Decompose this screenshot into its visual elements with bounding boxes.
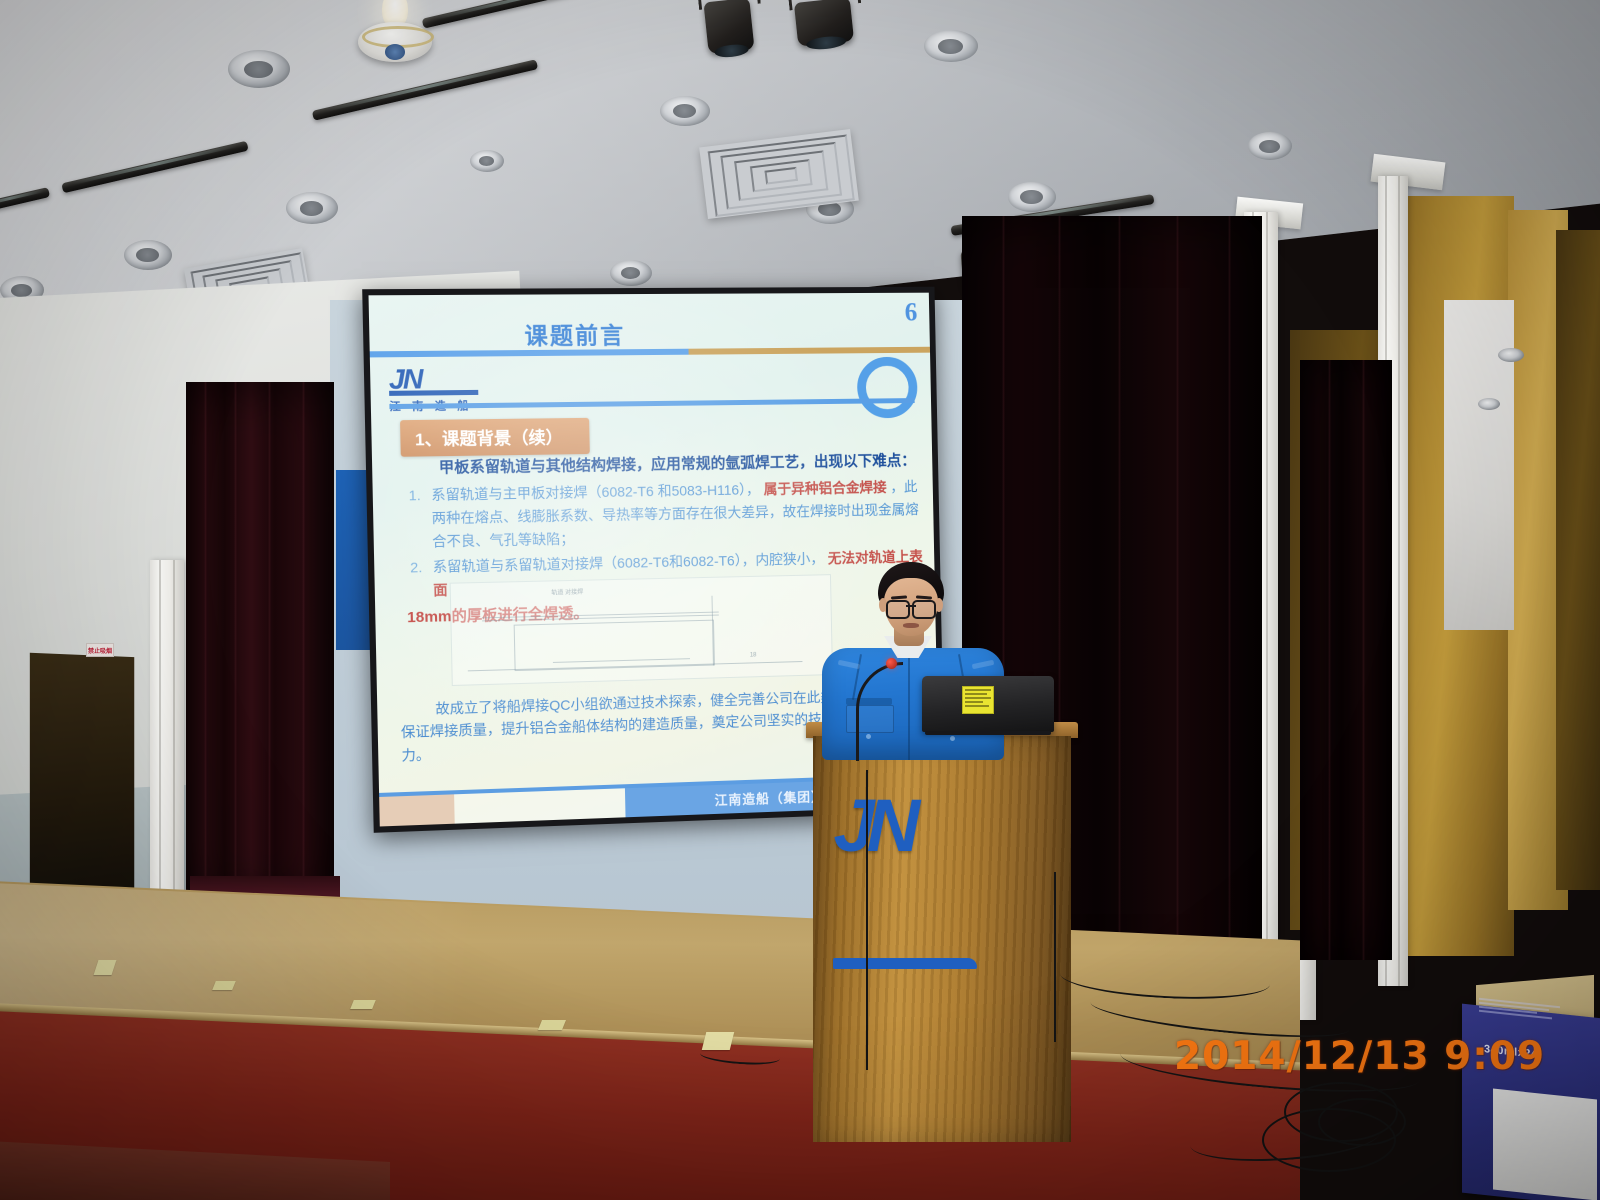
divider-tan-segment	[688, 347, 930, 355]
divider-blue-segment	[370, 349, 689, 358]
logo-mark-text: JN	[389, 366, 504, 393]
speaker-podium: JN	[806, 722, 1078, 1142]
floor-cable	[1054, 872, 1090, 1042]
presenter-mouth	[903, 623, 919, 628]
jacket-shoulder-tab	[972, 660, 995, 669]
stage-edge-marker	[538, 1020, 566, 1030]
list-item-emphasis: 属于异种铝合金焊接	[763, 480, 886, 498]
floor-cable	[866, 770, 888, 1070]
carton-white-label	[1493, 1089, 1597, 1200]
list-item-number: 1.	[408, 484, 420, 507]
glasses-lens-right	[912, 600, 936, 619]
gooseneck-microphone	[856, 662, 900, 758]
podium-front-panel: JN	[813, 736, 1071, 1142]
stage-edge-marker	[350, 1000, 376, 1009]
microphone-head	[886, 658, 897, 669]
no-smoking-sign-label: 禁止吸烟	[88, 646, 112, 655]
ceiling-downlight	[470, 150, 504, 172]
slide-page-number: 6	[904, 298, 917, 328]
figure-caption: 轨道 对接焊	[551, 587, 583, 597]
microphone-stem	[856, 662, 903, 761]
podium-logo-swoosh	[833, 958, 976, 969]
presenter-ear	[935, 598, 943, 612]
jacket-button	[950, 736, 955, 741]
ceiling-downlight	[286, 192, 338, 224]
figure-dimension-label: 18	[750, 652, 757, 658]
no-smoking-sign: 禁止吸烟	[86, 643, 114, 657]
list-item-number: 2.	[410, 556, 422, 579]
ceiling-downlight	[228, 50, 290, 88]
laptop-hinge	[925, 731, 1052, 735]
glasses-bridge	[906, 605, 916, 607]
presenter-glasses	[886, 600, 936, 615]
slide-title-divider	[370, 347, 930, 358]
stage-edge-marker	[212, 981, 236, 990]
ceiling-downlight	[1008, 182, 1056, 212]
photo-scene: 禁止吸烟 6 课题前言	[0, 0, 1600, 1200]
slide-ring-decoration	[857, 357, 918, 419]
alcove-downlight	[1498, 348, 1524, 362]
list-item-text-a: 系留轨道与系留轨道对接焊（6082-T6和6082-T6），内腔狭小，	[433, 551, 824, 575]
wall-pilaster	[150, 560, 184, 910]
ceiling-downlight	[124, 240, 172, 270]
slide-section-heading: 1、课题背景（续）	[400, 417, 589, 456]
camera-timestamp: 2014/12/13 9:09	[1174, 1034, 1545, 1079]
stage-spotlight-fixture	[703, 0, 754, 54]
stage-curtain-left	[186, 382, 334, 906]
slide-title: 课题前言	[524, 316, 625, 351]
cardboard-carton: 340mlx24	[1462, 980, 1600, 1200]
ceiling-downlight	[660, 96, 710, 126]
stage-curtain-far-right	[1300, 360, 1392, 960]
footer-blank-block	[454, 789, 625, 824]
presenter-laptop[interactable]	[922, 676, 1054, 732]
glasses-lens-left	[886, 600, 910, 619]
ceiling-downlight	[610, 260, 652, 286]
ceiling-downlight	[1248, 132, 1292, 160]
stage-spotlight-fixture	[794, 0, 854, 47]
list-item-text-a: 系留轨道与主甲板对接焊（6082-T6 和5083-H116），	[431, 482, 760, 504]
pendant-ceiling-light	[358, 0, 432, 62]
left-doorway[interactable]	[30, 653, 134, 898]
alcove-downlight	[1478, 398, 1500, 410]
jacket-center-seam	[908, 648, 910, 760]
ceiling-downlight	[924, 30, 978, 62]
footer-tan-block	[379, 795, 455, 827]
slide-technical-figure: 轨道 对接焊 18	[450, 575, 834, 686]
laptop-asset-sticker	[962, 686, 994, 714]
list-item: 1. 系留轨道与主甲板对接焊（6082-T6 和5083-H116）， 属于异种…	[404, 476, 923, 554]
right-wall-wood-panel	[1556, 230, 1600, 890]
